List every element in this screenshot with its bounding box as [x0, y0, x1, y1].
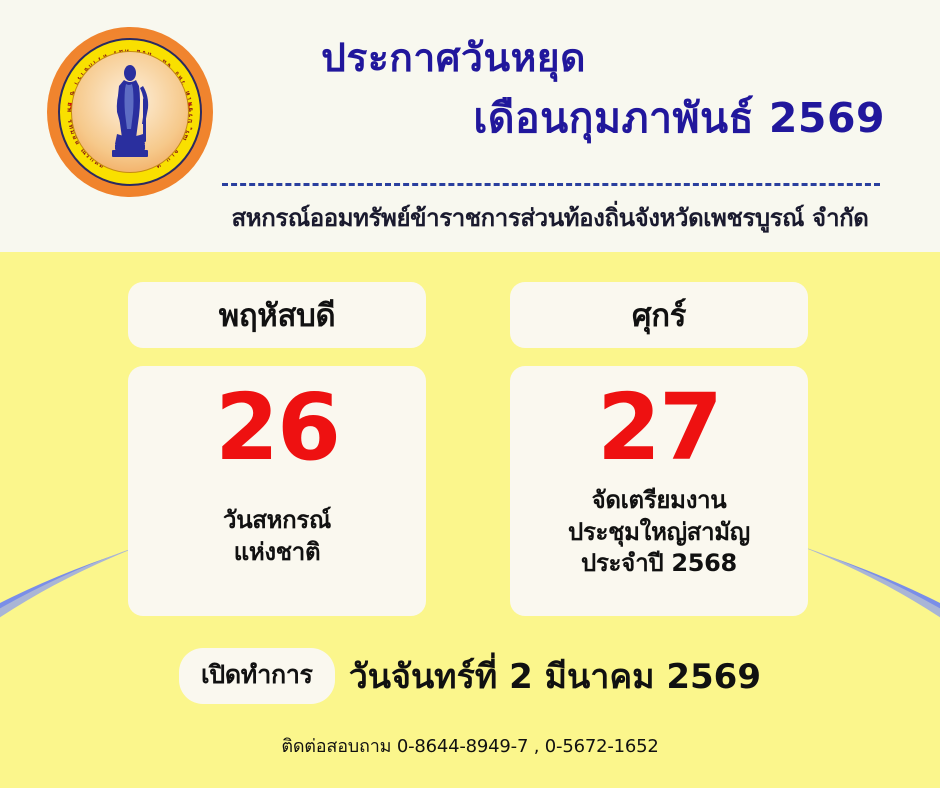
day-description-line: ประชุมใหญ่สามัญ — [568, 517, 750, 549]
day-description-line: จัดเตรียมงาน — [568, 485, 750, 517]
day-column-thursday: พฤหัสบดี 26 วันสหกรณ์ แห่งชาติ — [128, 282, 426, 616]
poster-footer: เปิดทำการ วันจันทร์ที่ 2 มีนาคม 2569 ติด… — [0, 648, 940, 760]
holiday-announcement-poster: สหกรณ์ออมทรัพย์ข้าราชการส่วนท้องถิ่นจังห… — [0, 0, 940, 788]
contact-info: ติดต่อสอบถาม 0-8644-8949-7 , 0-5672-1652 — [0, 731, 940, 760]
day-description-27: จัดเตรียมงาน ประชุมใหญ่สามัญ ประจำปี 256… — [568, 485, 750, 580]
weekday-label-friday: ศุกร์ — [510, 282, 808, 348]
day-description-line: วันสหกรณ์ — [223, 505, 331, 537]
statue-icon — [107, 64, 153, 160]
day-description-26: วันสหกรณ์ แห่งชาติ — [223, 505, 331, 568]
logo-inner-disc — [71, 51, 189, 173]
day-number-26: 26 — [215, 376, 339, 479]
logo-yellow-ring: สหกรณ์ออมทรัพย์ข้าราชการส่วนท้องถิ่นจังห… — [58, 38, 202, 186]
day-card-26: 26 วันสหกรณ์ แห่งชาติ — [128, 366, 426, 616]
organization-name: สหกรณ์ออมทรัพย์ข้าราชการส่วนท้องถิ่นจังห… — [180, 198, 920, 237]
day-description-line: แห่งชาติ — [223, 537, 331, 569]
poster-title-line1: ประกาศวันหยุด — [220, 38, 890, 81]
reopen-date: วันจันทร์ที่ 2 มีนาคม 2569 — [349, 649, 761, 703]
header-dashed-divider — [222, 183, 880, 186]
reopen-label-pill: เปิดทำการ — [179, 648, 335, 704]
day-card-27: 27 จัดเตรียมงาน ประชุมใหญ่สามัญ ประจำปี … — [510, 366, 808, 616]
cooperative-logo-icon: สหกรณ์ออมทรัพย์ข้าราชการส่วนท้องถิ่นจังห… — [47, 27, 213, 197]
day-column-friday: ศุกร์ 27 จัดเตรียมงาน ประชุมใหญ่สามัญ ปร… — [510, 282, 808, 616]
poster-title-line2: เดือนกุมภาพันธ์ 2569 — [220, 95, 890, 142]
day-description-line: ประจำปี 2568 — [568, 548, 750, 580]
day-number-27: 27 — [597, 376, 721, 479]
title-block: ประกาศวันหยุด เดือนกุมภาพันธ์ 2569 — [220, 38, 890, 142]
weekday-label-thursday: พฤหัสบดี — [128, 282, 426, 348]
reopen-row: เปิดทำการ วันจันทร์ที่ 2 มีนาคม 2569 — [0, 648, 940, 704]
